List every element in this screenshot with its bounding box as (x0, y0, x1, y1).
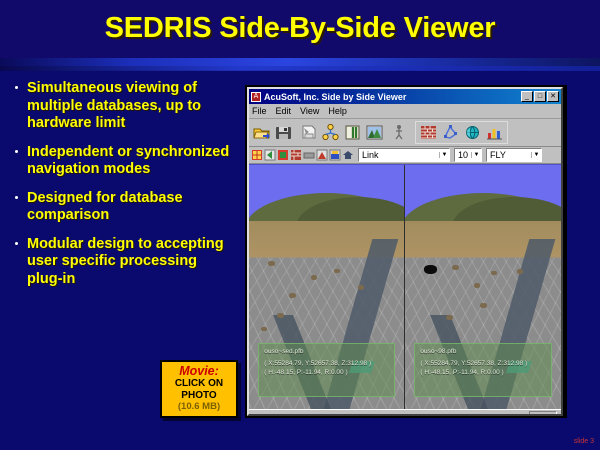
rock (480, 303, 487, 308)
navigation-mode-value: FLY (490, 150, 531, 160)
rock (289, 293, 296, 298)
main-toolbar (249, 119, 561, 147)
status-hint: For Help, Press F1. (253, 412, 327, 416)
view-mode-5-icon[interactable] (303, 149, 315, 161)
link-mode-value: Link (362, 150, 439, 160)
minimize-button[interactable]: _ (521, 91, 533, 102)
rock (268, 261, 275, 266)
chart-icon[interactable] (485, 123, 504, 142)
menu-edit[interactable]: Edit (276, 106, 292, 116)
page-title: SEDRIS Side-By-Side Viewer (0, 12, 600, 45)
movie-callout[interactable]: Movie: CLICK ON PHOTO (10.6 MB) (160, 360, 238, 418)
print-icon[interactable] (299, 123, 318, 142)
bullet-text: Independent or synchronized navigation m… (27, 144, 229, 178)
view-mode-6-icon[interactable] (316, 149, 328, 161)
title-divider-secondary (0, 66, 600, 71)
list-item: Designed for database comparison (14, 190, 236, 225)
navigation-mode-select[interactable]: FLY ▼ (486, 148, 542, 162)
title-band: SEDRIS Side-By-Side Viewer (0, 0, 600, 58)
list-item: Simultaneous viewing of multiple databas… (14, 80, 236, 133)
chevron-down-icon[interactable]: ▼ (471, 152, 481, 158)
pane-filename: ouso~98.pfb (420, 347, 545, 357)
rock (452, 265, 459, 270)
link-mode-select[interactable]: Link ▼ (358, 148, 450, 162)
window-titlebar[interactable]: A AcuSoft, Inc. Side by Side Viewer _ □ … (249, 89, 561, 104)
maximize-button[interactable]: □ (534, 91, 546, 102)
file-tool-group (252, 123, 293, 142)
speed-select[interactable]: 10 ▼ (454, 148, 482, 162)
save-disk-icon[interactable] (274, 123, 293, 142)
rock (277, 313, 284, 318)
close-button[interactable]: ✕ (547, 91, 559, 102)
bullet-text: Designed for database comparison (27, 190, 183, 224)
window-controls: _ □ ✕ (521, 91, 559, 102)
bullet-dot-icon (15, 196, 18, 199)
viewport-pane-right[interactable]: ouso~98.pfb ( X:55284.79, Y:52657.38, Z:… (405, 165, 561, 409)
view-mode-7-icon[interactable] (329, 149, 341, 161)
rock (491, 271, 497, 275)
menu-view[interactable]: View (300, 106, 319, 116)
bullet-dot-icon (15, 150, 18, 153)
view-mode-2-icon[interactable] (264, 149, 276, 161)
bullet-dot-icon (15, 242, 18, 245)
movie-callout-line1: CLICK ON (162, 378, 236, 390)
app-icon: A (251, 92, 261, 102)
chevron-down-icon[interactable]: ▼ (439, 152, 449, 158)
rock (334, 269, 340, 273)
rock (474, 283, 480, 288)
movie-callout-size: (10.6 MB) (162, 401, 236, 413)
list-item: Independent or synchronized navigation m… (14, 144, 236, 179)
rock (517, 269, 523, 274)
edit-tool-group (299, 123, 384, 142)
pane-info-overlay: ouso~98.pfb ( X:55284.79, Y:52657.38, Z:… (414, 343, 551, 397)
rock (358, 285, 364, 290)
hierarchy-icon[interactable] (321, 123, 340, 142)
status-mode: SbS (529, 411, 557, 416)
app-window: A AcuSoft, Inc. Side by Side Viewer _ □ … (247, 87, 563, 416)
pane-orientation: ( H:-48.15, P:-11.94, R:0.00 ) (420, 368, 545, 378)
bullet-list: Simultaneous viewing of multiple databas… (14, 80, 236, 299)
render-tool-group (415, 121, 508, 144)
rock (261, 327, 267, 331)
pane-orientation: ( H:-48.15, P:-11.94, R:0.00 ) (264, 368, 388, 378)
slide-number: slide 3 (574, 438, 594, 445)
globe-icon[interactable] (463, 123, 482, 142)
menu-file[interactable]: File (252, 106, 267, 116)
rock (446, 315, 453, 320)
chevron-down-icon[interactable]: ▼ (531, 152, 541, 158)
bullet-text: Modular design to accepting user specifi… (27, 236, 224, 287)
database-icon[interactable] (343, 123, 362, 142)
3d-viewport[interactable]: ouso~sed.pfb ( X:55284.79, Y:52657.38, Z… (249, 164, 561, 409)
wireframe-icon[interactable] (441, 123, 460, 142)
list-item: Modular design to accepting user specifi… (14, 236, 236, 289)
open-folder-icon[interactable] (252, 123, 271, 142)
viewport-pane-left[interactable]: ouso~sed.pfb ( X:55284.79, Y:52657.38, Z… (249, 165, 405, 409)
pane-position: ( X:55284.79, Y:52657.38, Z:312.98 ) (264, 359, 388, 369)
view-mode-4-icon[interactable] (290, 149, 302, 161)
dark-feature (424, 265, 437, 274)
window-title: AcuSoft, Inc. Side by Side Viewer (264, 92, 521, 102)
bullet-text: Simultaneous viewing of multiple databas… (27, 80, 201, 131)
pane-filename: ouso~sed.pfb (264, 347, 388, 357)
view-mode-1-icon[interactable] (251, 149, 263, 161)
speed-value: 10 (458, 150, 471, 160)
rock (311, 275, 317, 280)
statusbar: For Help, Press F1. SbS (249, 409, 561, 416)
pane-position: ( X:55284.79, Y:52657.38, Z:312.98 ) (420, 359, 545, 369)
brick-texture-icon[interactable] (419, 123, 438, 142)
view-mode-3-icon[interactable] (277, 149, 289, 161)
bullet-dot-icon (15, 86, 18, 89)
terrain-icon[interactable] (365, 123, 384, 142)
movie-callout-heading: Movie: (162, 364, 236, 378)
movie-callout-line2: PHOTO (162, 390, 236, 402)
view-toolbar: Link ▼ 10 ▼ FLY ▼ (249, 147, 561, 164)
slide-root: SEDRIS Side-By-Side Viewer Simultaneous … (0, 0, 600, 450)
pane-info-overlay: ouso~sed.pfb ( X:55284.79, Y:52657.38, Z… (258, 343, 394, 397)
app-screenshot-frame[interactable]: A AcuSoft, Inc. Side by Side Viewer _ □ … (245, 85, 567, 418)
menubar: File Edit View Help (249, 104, 561, 119)
person-icon[interactable] (390, 123, 409, 142)
view-mode-8-icon[interactable] (342, 149, 354, 161)
menu-help[interactable]: Help (328, 106, 347, 116)
